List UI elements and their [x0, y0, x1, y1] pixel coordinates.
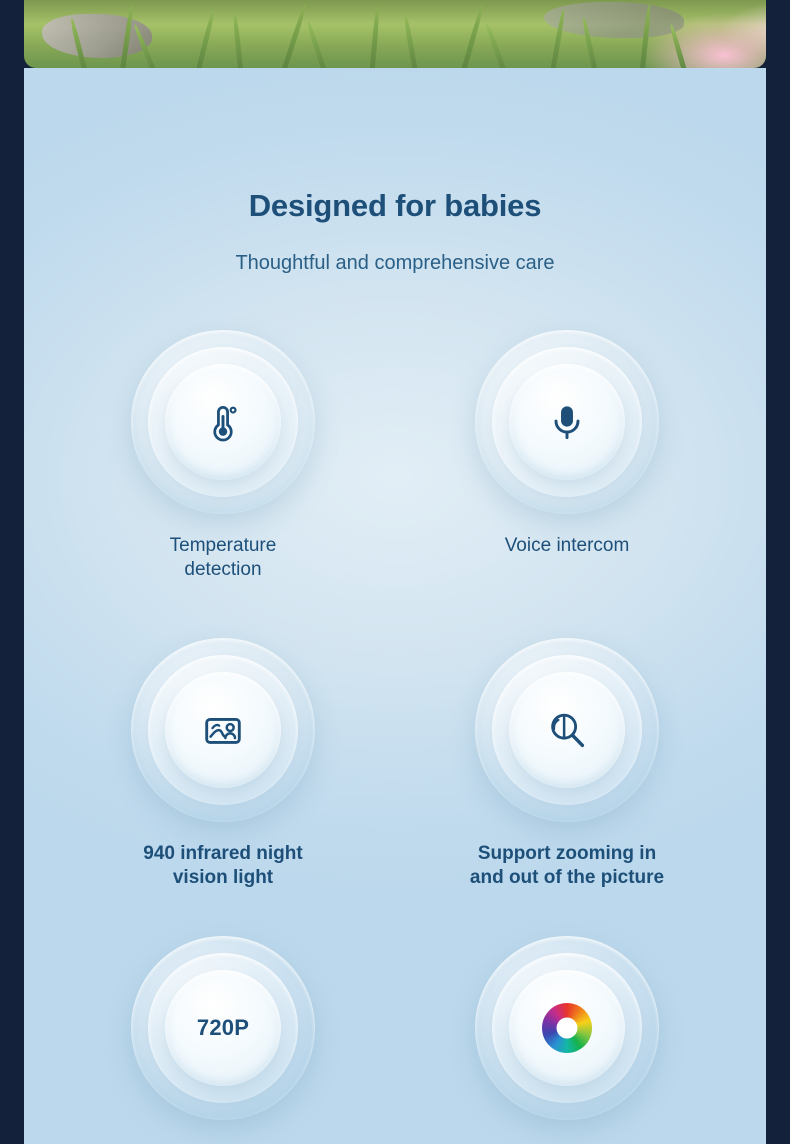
feature-row: Temperature detection [24, 330, 766, 582]
feature-item-night-vision: 940 infrared night vision light [98, 638, 348, 890]
microphone-icon [545, 400, 589, 444]
feature-orb-inner [509, 970, 625, 1086]
feature-label: Support zooming in and out of the pictur… [470, 842, 664, 890]
page-subtitle: Thoughtful and comprehensive care [24, 252, 766, 275]
feature-label: Voice intercom [505, 534, 630, 558]
feature-orb-inner [509, 364, 625, 480]
feature-label: 940 infrared night vision light [143, 842, 302, 890]
feature-row: 940 infrared night vision light [24, 638, 766, 890]
feature-item-color [442, 936, 692, 1138]
resolution-text: 720P [197, 1015, 249, 1041]
magnifier-zoom-icon [544, 707, 590, 753]
feature-orb-inner [165, 672, 281, 788]
photo-overlay [24, 0, 766, 68]
feature-item-temperature: Temperature detection [98, 330, 348, 582]
feature-orb-inner [165, 364, 281, 480]
feature-card: Designed for babies Thoughtful and compr… [24, 68, 766, 1144]
feature-item-zoom: Support zooming in and out of the pictur… [442, 638, 692, 890]
feature-orb [475, 936, 659, 1120]
feature-orb-inner [509, 672, 625, 788]
feature-orb [131, 330, 315, 514]
feature-item-resolution: 720P [98, 936, 348, 1138]
feature-item-voice-intercom: Voice intercom [442, 330, 692, 582]
feature-orb [475, 638, 659, 822]
feature-grid: Temperature detection [24, 330, 766, 1144]
color-wheel-icon [542, 1003, 592, 1053]
night-vision-image-icon [200, 707, 246, 753]
feature-orb: 720P [131, 936, 315, 1120]
feature-orb [131, 638, 315, 822]
thermometer-icon [201, 400, 245, 444]
page-root: Designed for babies Thoughtful and compr… [0, 0, 790, 1144]
feature-orb-inner: 720P [165, 970, 281, 1086]
feature-row: 720P [24, 936, 766, 1138]
hero-photo-strip [24, 0, 766, 68]
page-title: Designed for babies [24, 188, 766, 224]
feature-label: Temperature detection [170, 534, 277, 582]
feature-orb [475, 330, 659, 514]
